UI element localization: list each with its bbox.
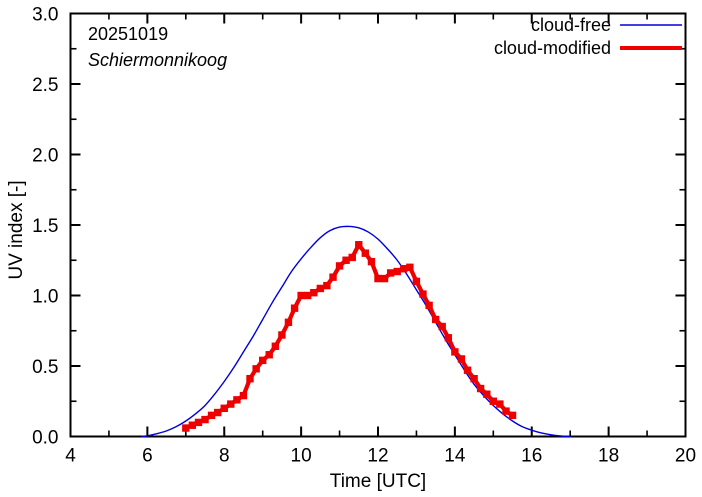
data-point-marker [502,407,509,414]
y-tick-label: 3.0 [32,5,58,26]
data-point-marker [285,319,292,326]
data-point-marker [329,273,336,280]
data-point-marker [291,304,298,311]
x-tick-label: 10 [291,446,312,467]
x-tick-label: 16 [521,446,542,467]
y-axis-title: UV index [-] [6,180,27,279]
data-point-marker [496,400,503,407]
y-tick-label: 1.5 [32,216,58,237]
y-tick-label: 1.0 [32,287,58,308]
data-point-marker [246,375,253,382]
data-point-marker [214,409,221,416]
x-axis-title: Time [UTC] [330,471,426,492]
data-point-marker [438,323,445,330]
x-tick-label: 4 [65,446,76,467]
data-point-marker [445,334,452,341]
data-point-marker [490,398,497,405]
legend-label-cloud-modified: cloud-modified [494,38,611,58]
y-tick-label: 0.0 [32,428,58,449]
x-tick-label: 6 [142,446,153,467]
data-point-marker [266,351,273,358]
data-point-marker [432,316,439,323]
data-point-marker [349,254,356,261]
x-tick-label: 18 [598,446,619,467]
y-tick-label: 0.5 [32,357,58,378]
data-point-marker [221,405,228,412]
data-point-marker [323,282,330,289]
annotation-date: 20251019 [88,24,168,44]
data-point-marker [317,285,324,292]
data-point-marker [336,262,343,269]
data-point-marker [259,357,266,364]
annotation-site: Schiermonnikoog [88,50,227,70]
x-tick-label: 20 [675,446,696,467]
chart-background [0,0,702,497]
data-point-marker [425,302,432,309]
x-tick-label: 14 [444,446,466,467]
data-point-marker [272,343,279,350]
data-point-marker [310,289,317,296]
legend-label-cloud-free: cloud-free [531,15,611,35]
data-point-marker [355,241,362,248]
x-tick-label: 8 [219,446,230,467]
data-point-marker [374,275,381,282]
data-point-marker [240,392,247,399]
chart-canvas: 468101214161820 0.00.51.01.52.02.53.0 Ti… [0,0,702,497]
data-point-marker [233,396,240,403]
data-point-marker [464,367,471,374]
data-point-marker [470,375,477,382]
data-point-marker [458,355,465,362]
data-point-marker [419,290,426,297]
data-point-marker [195,419,202,426]
y-tick-label: 2.0 [32,146,58,167]
x-tick-label: 12 [367,446,388,467]
data-point-marker [451,348,458,355]
data-point-marker [394,268,401,275]
data-point-marker [362,250,369,257]
uv-index-chart: 468101214161820 0.00.51.01.52.02.53.0 Ti… [0,0,702,497]
data-point-marker [413,278,420,285]
data-point-marker [182,424,189,431]
y-tick-label: 2.5 [32,75,58,96]
data-point-marker [368,258,375,265]
data-point-marker [387,269,394,276]
data-point-marker [483,391,490,398]
data-point-marker [406,264,413,271]
data-point-marker [201,416,208,423]
data-point-marker [252,365,259,372]
data-point-marker [509,412,516,419]
data-point-marker [297,292,304,299]
data-point-marker [278,331,285,338]
